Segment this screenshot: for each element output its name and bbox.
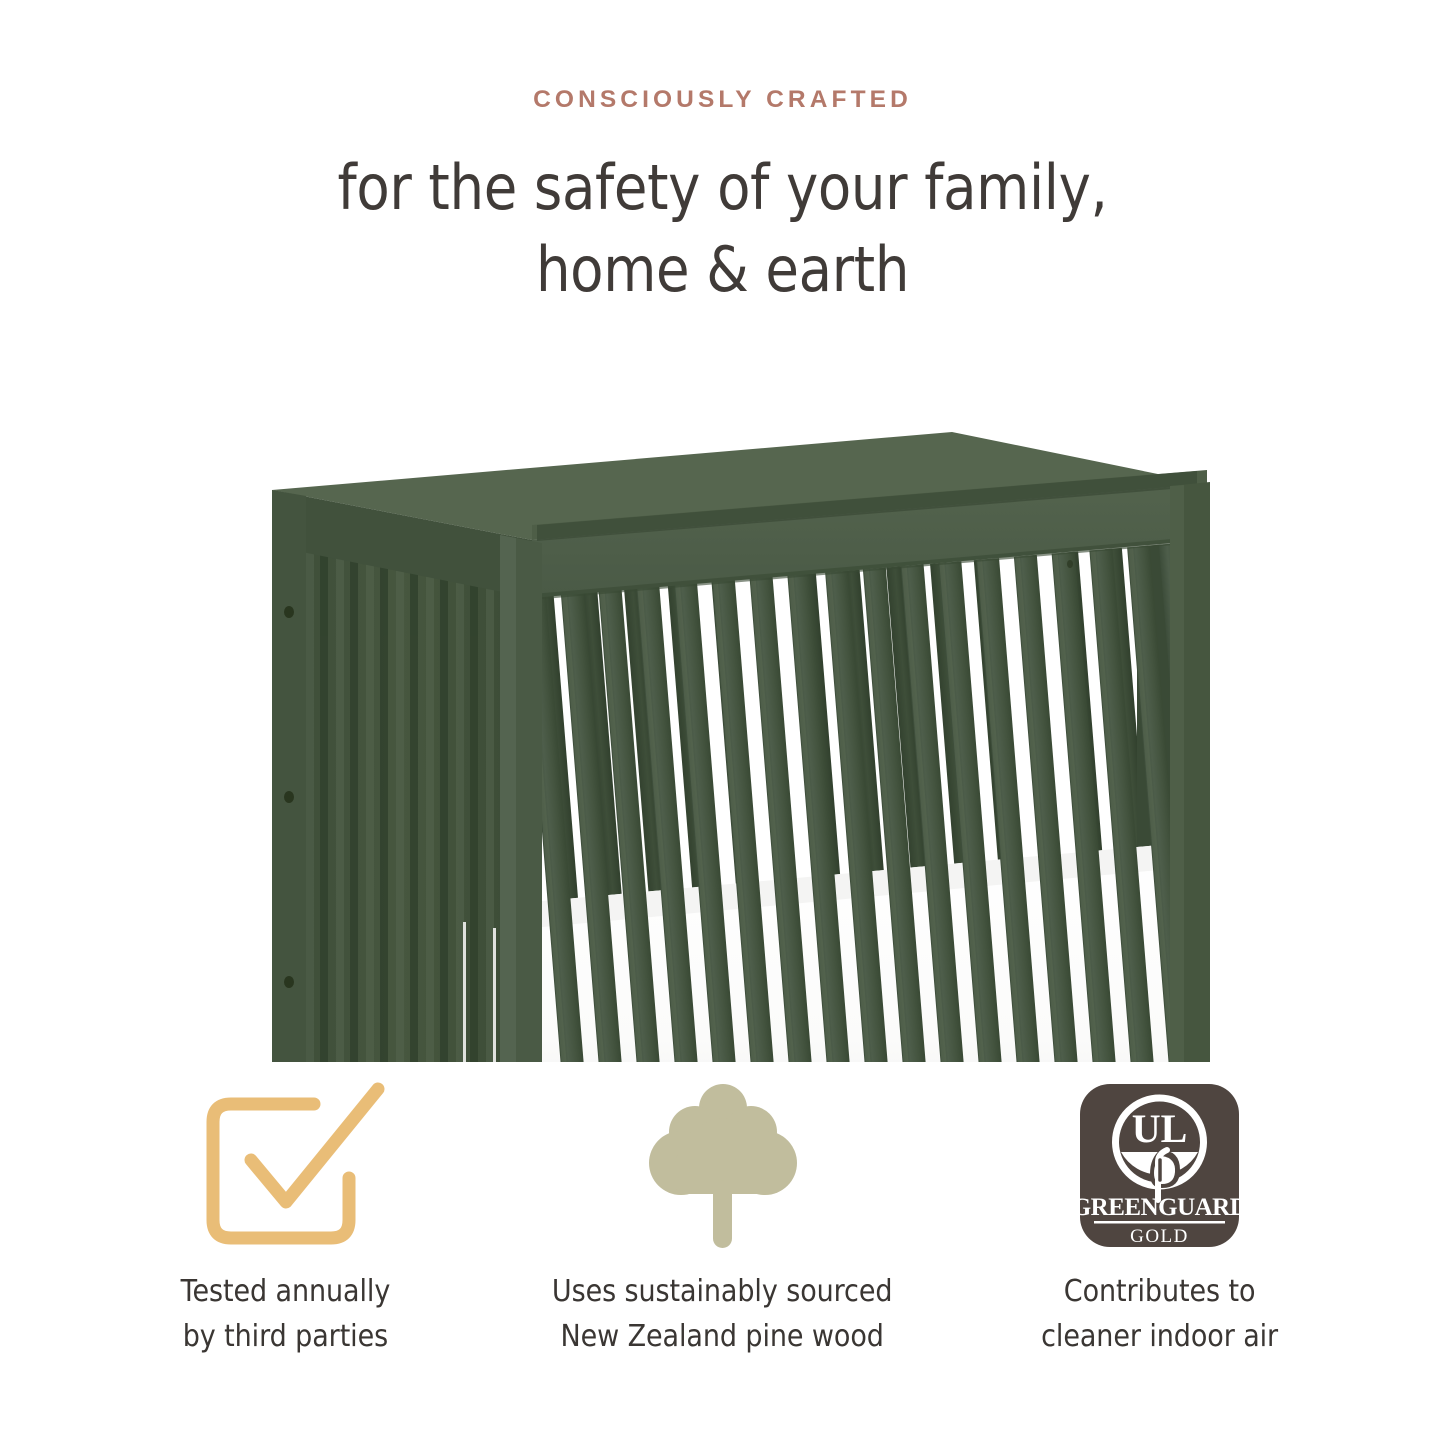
feature-tested-annually: Tested annually by third parties: [67, 1080, 504, 1359]
badge-divider: [1094, 1221, 1225, 1224]
feature-caption-line-1: Uses sustainably sourced: [552, 1269, 892, 1314]
page-title: for the safety of your family, home & ea…: [87, 113, 1359, 312]
headline-line-1: for the safety of your family,: [337, 151, 1107, 224]
feature-icon-wrap: UL GREENGUARD GOLD: [1072, 1080, 1247, 1255]
feature-row: Tested annually by third parties: [0, 1080, 1445, 1359]
feature-caption-line-1: Contributes to: [1041, 1269, 1278, 1314]
eyebrow-text: CONSCIOUSLY CRAFTED: [0, 88, 1445, 113]
gold-tier-text: GOLD: [1130, 1226, 1189, 1247]
header: CONSCIOUSLY CRAFTED for the safety of yo…: [0, 88, 1445, 311]
product-image-crib: [232, 362, 1232, 1062]
mattress-height-holes-inner-post: [1067, 560, 1073, 568]
checkbox-check-icon: [186, 1080, 386, 1255]
feature-caption-line-2: cleaner indoor air: [1041, 1314, 1278, 1359]
feature-caption: Tested annually by third parties: [181, 1269, 391, 1359]
greenguard-gold-badge-icon: UL GREENGUARD GOLD: [1072, 1080, 1247, 1255]
greenguard-wordmark: GREENGUARD: [1072, 1194, 1247, 1221]
feature-caption-line-2: New Zealand pine wood: [552, 1314, 892, 1359]
feature-caption-line-2: by third parties: [181, 1314, 391, 1359]
feature-greenguard-gold: UL GREENGUARD GOLD: [941, 1080, 1378, 1359]
tree-icon: [633, 1080, 813, 1255]
crib-end-panel-left: [272, 537, 532, 1062]
feature-caption-line-1: Tested annually: [181, 1269, 391, 1314]
crib-illustration: [232, 362, 1232, 1062]
feature-sustainable-wood: Uses sustainably sourced New Zealand pin…: [504, 1080, 941, 1359]
feature-caption: Uses sustainably sourced New Zealand pin…: [552, 1269, 892, 1359]
feature-icon-wrap: [186, 1080, 386, 1255]
feature-caption: Contributes to cleaner indoor air: [1041, 1269, 1278, 1359]
infographic-page: CONSCIOUSLY CRAFTED for the safety of yo…: [0, 0, 1445, 1445]
ul-text: UL: [1132, 1106, 1188, 1151]
headline-line-2: home & earth: [536, 233, 909, 306]
feature-icon-wrap: [633, 1080, 813, 1255]
